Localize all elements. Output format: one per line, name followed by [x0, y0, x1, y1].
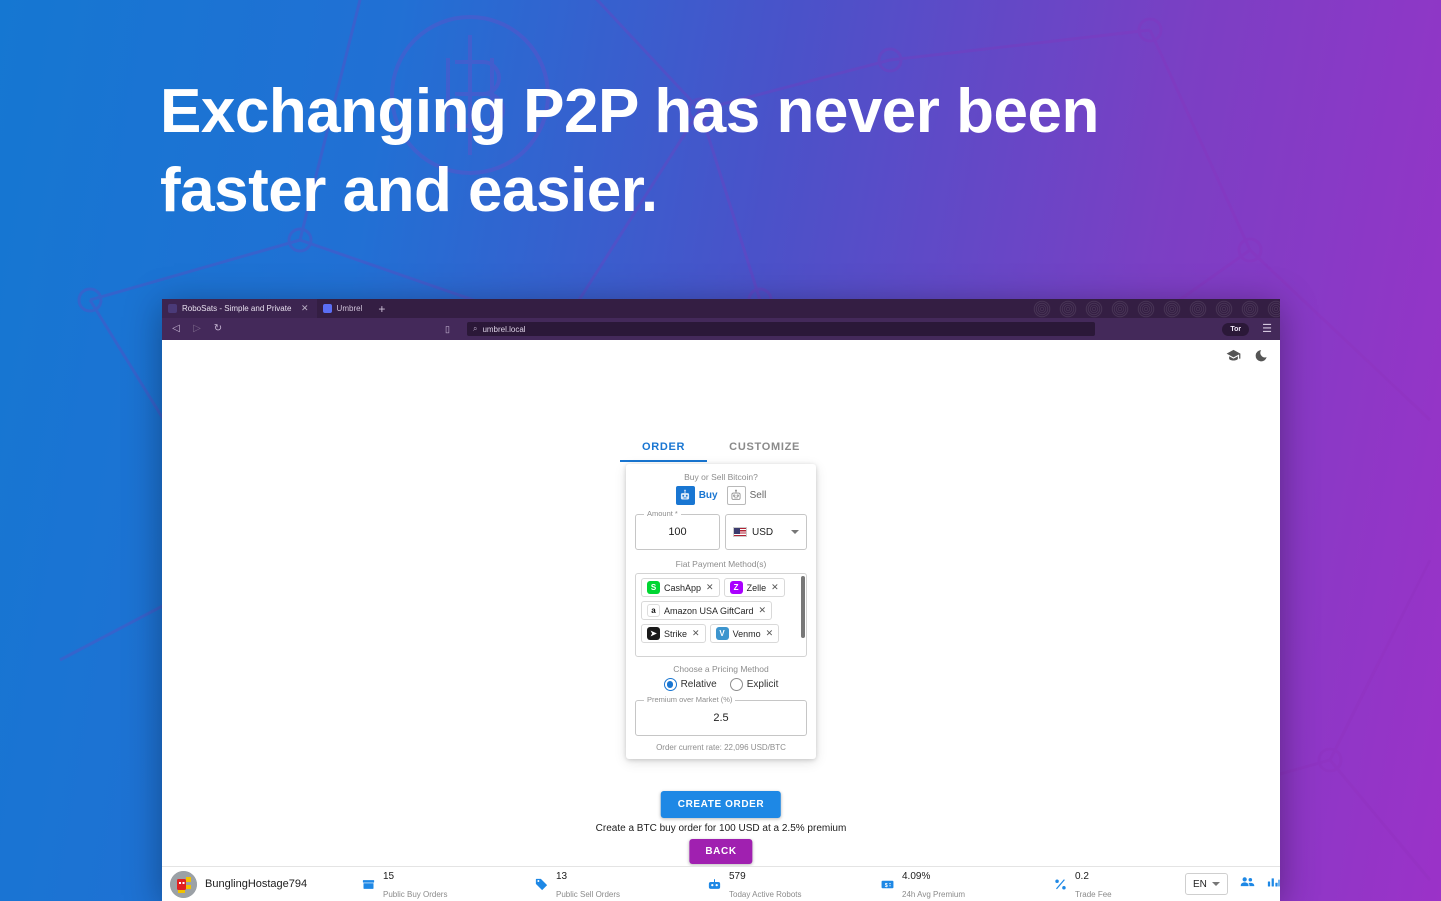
amount-value: 100 [668, 526, 686, 538]
stat-value: 15 [383, 871, 394, 882]
stat-today-active-robots: 579 Today Active Robots [706, 866, 879, 901]
username: BunglingHostage794 [205, 878, 307, 890]
stat-public-sell-orders: 13 Public Sell Orders [533, 866, 706, 901]
remove-icon[interactable]: ✕ [759, 605, 767, 616]
remove-icon[interactable]: ✕ [771, 582, 779, 593]
community-icon[interactable] [1239, 873, 1256, 895]
banknote-icon: $ [879, 876, 895, 892]
radio-label: Relative [681, 679, 717, 690]
stat-label: Public Sell Orders [556, 890, 620, 899]
stat-value: 579 [729, 871, 746, 882]
tab-order[interactable]: ORDER [620, 435, 707, 462]
language-select[interactable]: EN [1185, 873, 1228, 895]
premium-legend: Premium over Market (%) [644, 695, 735, 704]
pricing-option-relative[interactable]: Relative [664, 678, 717, 691]
headline-line-1: Exchanging P2P has never been [160, 72, 1160, 151]
reader-mode-icon[interactable]: ▯ [445, 324, 450, 335]
inbox-icon [360, 876, 376, 892]
robosats-favicon [168, 304, 177, 313]
zelle-icon: Z [730, 581, 743, 594]
robot-buy-icon [676, 486, 695, 505]
tag-icon [533, 876, 549, 892]
amount-row: Amount * 100 USD [635, 514, 807, 550]
payment-methods-scrollbar[interactable] [801, 576, 805, 638]
address-bar[interactable]: ⌕ umbrel.local [467, 322, 1095, 336]
chevron-down-icon [791, 530, 799, 534]
stat-value: 4.09% [902, 871, 930, 882]
strike-icon: ➤ [647, 627, 660, 640]
learn-icon[interactable] [1226, 348, 1241, 368]
buy-sell-toggle: Buy Sell [635, 486, 807, 505]
payment-methods-box[interactable]: S CashApp ✕ Z Zelle ✕ a Amazon USA GiftC… [635, 573, 807, 657]
amount-legend: Amount * [644, 509, 681, 518]
svg-text:$: $ [884, 882, 887, 888]
buy-label: Buy [699, 490, 718, 501]
radio-label: Explicit [747, 679, 779, 690]
payment-chip-zelle[interactable]: Z Zelle ✕ [724, 578, 785, 597]
stat-value: 0.2 [1075, 871, 1089, 882]
buy-option[interactable]: Buy [676, 486, 718, 505]
browser-navbar: ◁ ▷ ↻ ▯ ⌕ umbrel.local Tor ☰ [162, 318, 1280, 340]
browser-tab-robosats[interactable]: RoboSats - Simple and Private Bit ✕ [162, 299, 317, 318]
browser-tab-umbrel[interactable]: Umbrel [317, 299, 369, 318]
tor-badge[interactable]: Tor [1222, 323, 1249, 336]
radio-selected-icon [664, 678, 677, 691]
amazon-icon: a [647, 604, 660, 617]
currency-select[interactable]: USD [725, 514, 807, 550]
payment-chip-cashapp[interactable]: S CashApp ✕ [641, 578, 720, 597]
page-content: ORDER CUSTOMIZE Buy or Sell Bitcoin? [162, 340, 1280, 901]
back-button[interactable]: BACK [689, 839, 752, 864]
search-icon: ⌕ [473, 324, 477, 334]
payment-chip-venmo[interactable]: V Venmo ✕ [710, 624, 780, 643]
payment-methods-caption: Fiat Payment Method(s) [635, 559, 807, 569]
user-profile[interactable]: BunglingHostage794 [170, 871, 360, 898]
tab-customize[interactable]: CUSTOMIZE [707, 435, 822, 462]
amount-input[interactable]: Amount * 100 [635, 514, 720, 550]
page-top-icons [1226, 348, 1268, 368]
pricing-method-radios: Relative Explicit [635, 678, 807, 691]
status-bar: BunglingHostage794 15 Public Buy Orders … [162, 866, 1280, 901]
chip-label: Strike [664, 629, 687, 639]
status-bar-right-icons [1239, 873, 1280, 895]
stat-label: 24h Avg Premium [902, 890, 965, 899]
remove-icon[interactable]: ✕ [692, 628, 700, 639]
cashapp-icon: S [647, 581, 660, 594]
payment-chip-strike[interactable]: ➤ Strike ✕ [641, 624, 706, 643]
stat-label: Public Buy Orders [383, 890, 447, 899]
pricing-option-explicit[interactable]: Explicit [730, 678, 779, 691]
create-order-button[interactable]: CREATE ORDER [661, 791, 781, 818]
us-flag-icon [733, 527, 747, 537]
forward-icon[interactable]: ▷ [191, 324, 203, 334]
back-icon[interactable]: ◁ [170, 324, 182, 334]
window-chrome-decoration [1030, 299, 1280, 318]
stat-label: Trade Fee [1075, 890, 1112, 899]
sell-option[interactable]: Sell [727, 486, 767, 505]
chip-label: CashApp [664, 583, 701, 593]
robot-sell-icon [727, 486, 746, 505]
avatar [170, 871, 197, 898]
remove-icon[interactable]: ✕ [706, 582, 714, 593]
stat-public-buy-orders: 15 Public Buy Orders [360, 866, 533, 901]
robot-icon [706, 876, 722, 892]
sell-label: Sell [750, 490, 767, 501]
chevron-down-icon [1212, 882, 1220, 886]
browser-tabstrip: RoboSats - Simple and Private Bit ✕ Umbr… [162, 299, 1280, 318]
chip-label: Amazon USA GiftCard [664, 606, 754, 616]
stat-24h-avg-premium: $ 4.09% 24h Avg Premium [879, 866, 1052, 901]
tab-title: RoboSats - Simple and Private Bit [182, 304, 294, 313]
stats-icon[interactable] [1266, 874, 1280, 894]
stat-label: Today Active Robots [729, 890, 801, 899]
buy-or-sell-caption: Buy or Sell Bitcoin? [635, 472, 807, 482]
chip-label: Zelle [747, 583, 767, 593]
premium-value: 2.5 [713, 712, 728, 724]
pricing-method-caption: Choose a Pricing Method [635, 664, 807, 674]
hamburger-menu-icon[interactable]: ☰ [1258, 324, 1272, 335]
promo-headline: Exchanging P2P has never been faster and… [160, 72, 1160, 231]
headline-line-2: faster and easier. [160, 151, 1160, 230]
percent-icon [1052, 876, 1068, 892]
stat-value: 13 [556, 871, 567, 882]
new-tab-button[interactable]: + [368, 299, 395, 318]
order-summary-text: Create a BTC buy order for 100 USD at a … [162, 823, 1280, 834]
dark-mode-icon[interactable] [1254, 349, 1268, 368]
order-rate-note: Order current rate: 22,096 USD/BTC [635, 743, 807, 752]
stat-trade-fee: 0.2 Trade Fee [1052, 866, 1185, 901]
close-icon[interactable]: ✕ [299, 304, 311, 313]
venmo-icon: V [716, 627, 729, 640]
payment-chip-amazon[interactable]: a Amazon USA GiftCard ✕ [641, 601, 772, 620]
reload-icon[interactable]: ↻ [212, 324, 224, 334]
order-form-card: Buy or Sell Bitcoin? Buy [626, 464, 816, 759]
browser-window: RoboSats - Simple and Private Bit ✕ Umbr… [162, 299, 1280, 901]
currency-value: USD [752, 527, 773, 538]
language-value: EN [1193, 879, 1207, 890]
remove-icon[interactable]: ✕ [766, 628, 774, 639]
premium-input[interactable]: Premium over Market (%) 2.5 [635, 700, 807, 736]
umbrel-favicon [323, 304, 332, 313]
radio-unselected-icon [730, 678, 743, 691]
form-tabs: ORDER CUSTOMIZE [162, 435, 1280, 462]
chip-label: Venmo [733, 629, 761, 639]
tab-title: Umbrel [337, 304, 363, 313]
url-text: umbrel.local [482, 325, 525, 334]
